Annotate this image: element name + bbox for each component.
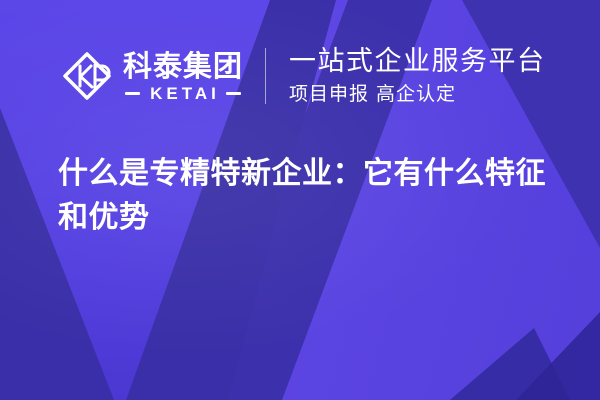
promo-banner: 科泰集团 KETAI 一站式企业服务平台 项目申报 高企认定 什么是专精特新企业… bbox=[0, 0, 600, 400]
page-title: 什么是专精特新企业：它有什么特征和优势 bbox=[58, 152, 564, 240]
brand-logo[interactable]: 科泰集团 KETAI bbox=[62, 50, 243, 103]
header-divider bbox=[265, 48, 266, 104]
brand-name-cn: 科泰集团 bbox=[123, 50, 243, 82]
banner-header: 科泰集团 KETAI 一站式企业服务平台 项目申报 高企认定 bbox=[0, 30, 600, 122]
dash-right-icon bbox=[226, 92, 241, 95]
header-tagline: 一站式企业服务平台 项目申报 高企认定 bbox=[289, 45, 546, 107]
tagline-primary: 一站式企业服务平台 bbox=[289, 45, 546, 78]
ketai-diamond-kp-monogram-icon bbox=[62, 51, 112, 101]
tagline-secondary: 项目申报 高企认定 bbox=[289, 81, 546, 107]
brand-wordmark: 科泰集团 KETAI bbox=[123, 50, 243, 103]
dash-left-icon bbox=[125, 92, 140, 95]
brand-name-en-row: KETAI bbox=[123, 84, 243, 103]
brand-name-en: KETAI bbox=[146, 84, 220, 103]
